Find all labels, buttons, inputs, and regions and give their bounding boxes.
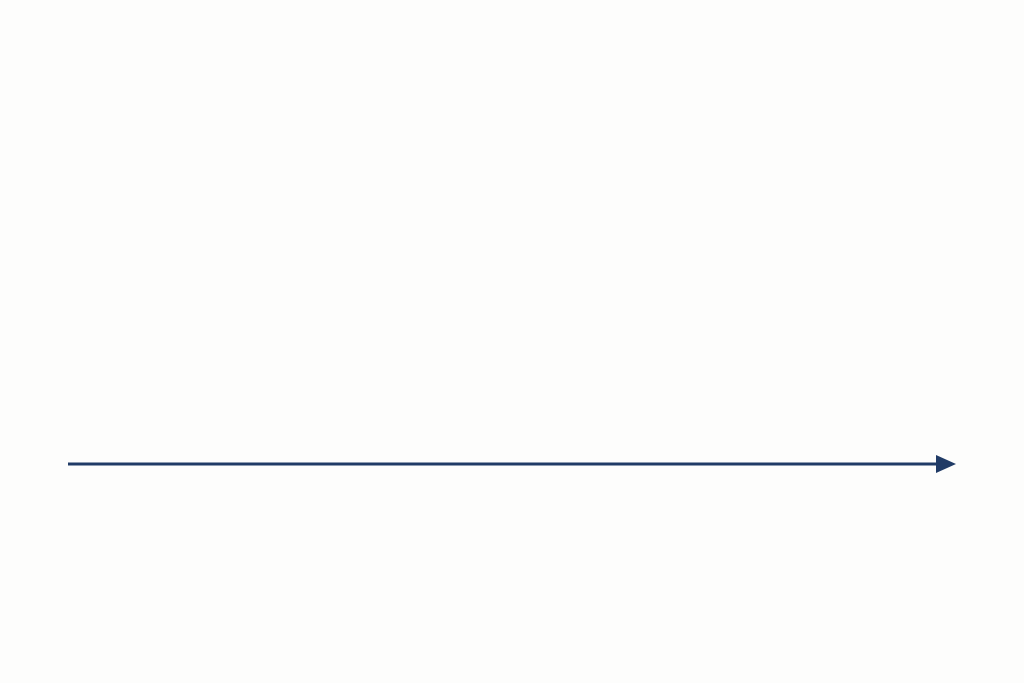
diffusion-curve-figure — [0, 0, 1024, 683]
bell-curve-chart — [0, 0, 1024, 683]
time-axis — [68, 455, 956, 473]
arrow-right-icon — [936, 455, 956, 473]
